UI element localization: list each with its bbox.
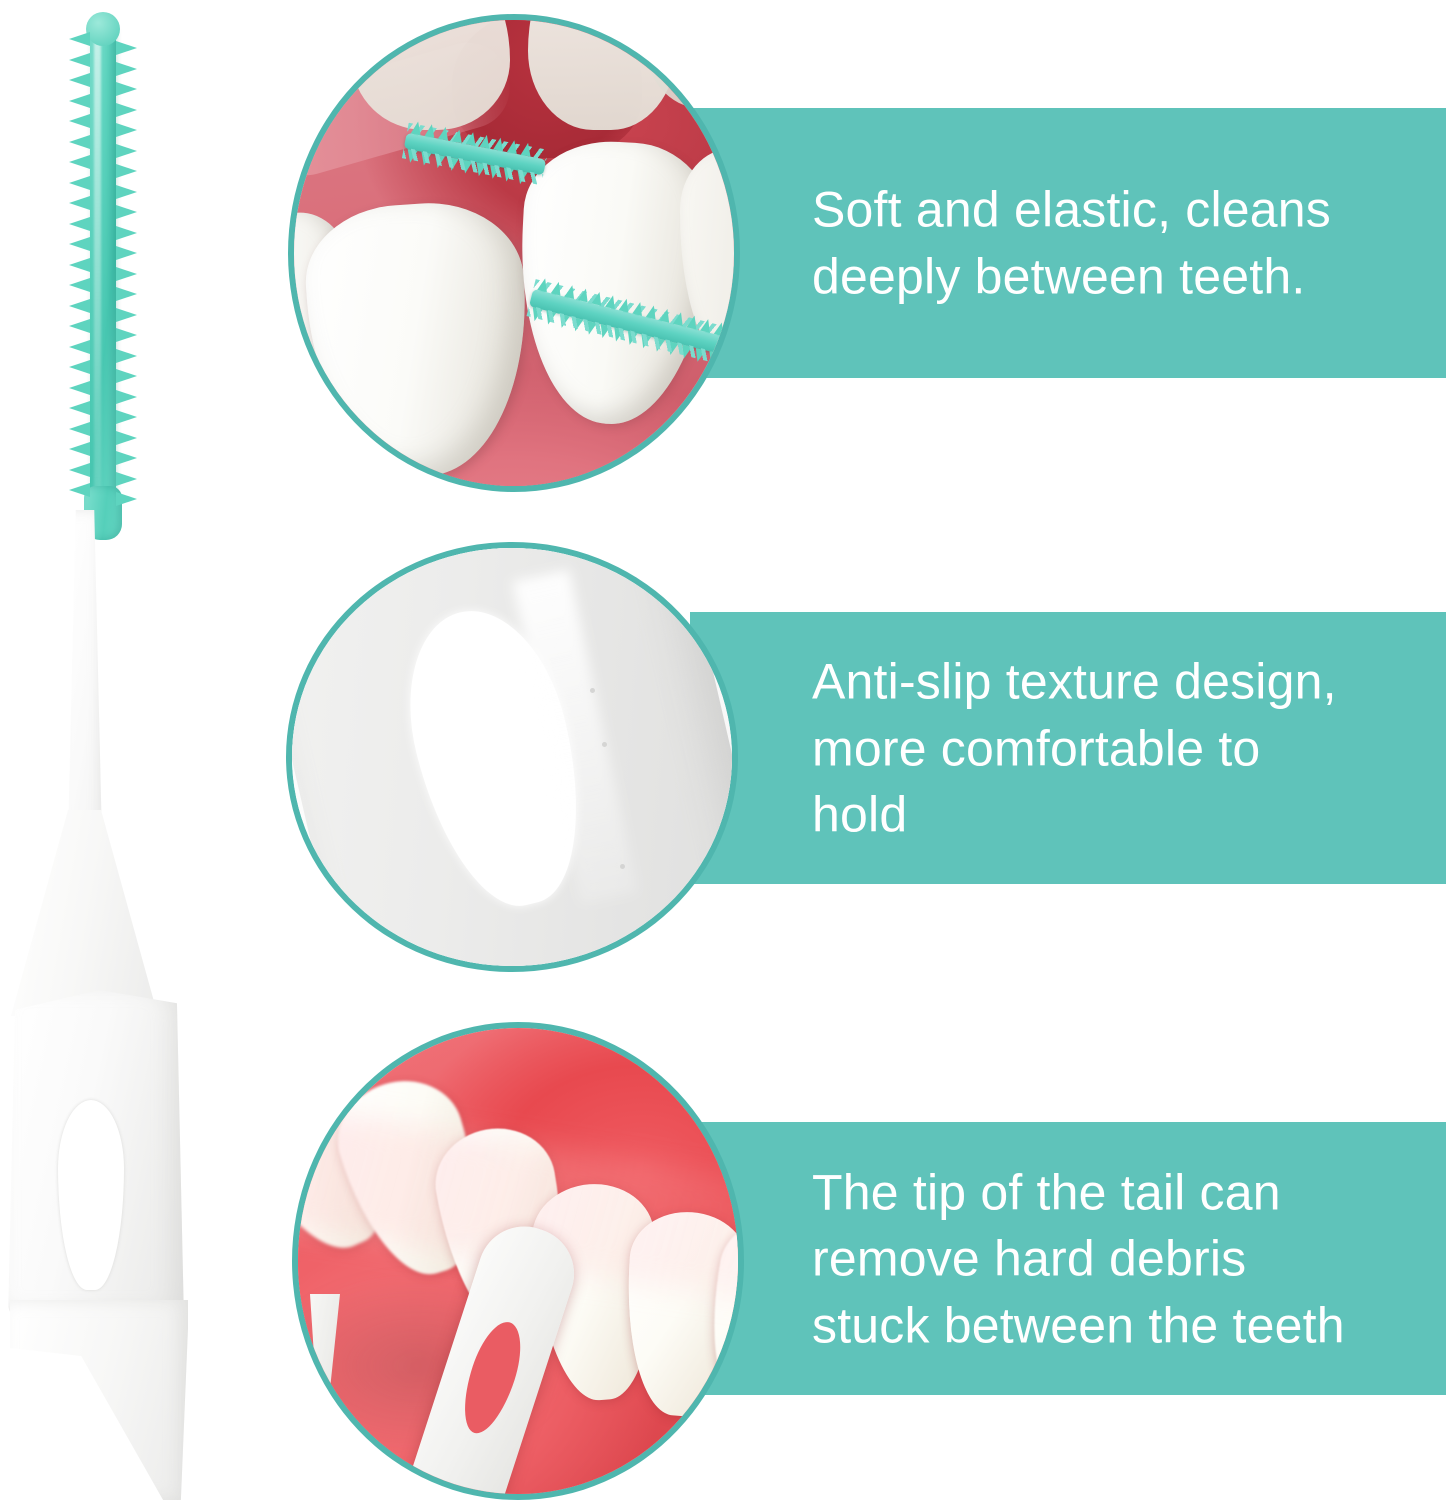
barb <box>116 123 137 137</box>
barb <box>69 258 90 272</box>
pick-spike <box>501 168 513 183</box>
barb <box>116 349 137 363</box>
pick-spike <box>438 126 450 141</box>
barb <box>69 217 90 231</box>
barb <box>69 381 90 395</box>
pick-spike <box>474 162 486 177</box>
barb <box>116 492 137 506</box>
handle-neck <box>0 510 220 1010</box>
pick-spike <box>419 152 431 167</box>
pick-spike <box>493 137 505 152</box>
pick-spike <box>693 348 706 363</box>
pick-spike <box>619 298 632 313</box>
barb <box>69 73 90 87</box>
pick-spike <box>460 160 472 175</box>
pick-spike <box>551 281 564 296</box>
pick-spike <box>411 121 423 136</box>
barb <box>116 41 137 55</box>
barb <box>116 103 137 117</box>
barb <box>116 267 137 281</box>
pick-spike <box>507 139 519 154</box>
barb <box>116 410 137 424</box>
barb <box>69 442 90 456</box>
pick-spike <box>446 157 458 172</box>
pick-spike <box>611 328 624 343</box>
surface-speck <box>620 864 625 869</box>
pick-spike <box>479 134 491 149</box>
barb <box>69 155 90 169</box>
feature-photo-2 <box>286 542 738 972</box>
barb <box>116 185 137 199</box>
surface-speck <box>602 742 607 747</box>
feature-banner-3: The tip of the tail can remove hard debr… <box>690 1122 1446 1395</box>
pick-spike <box>515 170 527 185</box>
pick-spike <box>632 301 645 316</box>
barb <box>69 32 90 46</box>
pick-spike <box>679 345 692 360</box>
pick-spike <box>659 308 672 323</box>
pick-spike <box>584 321 597 336</box>
pick-spike <box>605 294 618 309</box>
barb <box>69 483 90 497</box>
barb <box>69 340 90 354</box>
barb <box>69 299 90 313</box>
pick-spike <box>700 318 713 333</box>
pick-spike <box>537 277 550 292</box>
barb <box>69 319 90 333</box>
barb <box>69 463 90 477</box>
bristle-tip <box>86 12 120 46</box>
barb <box>116 205 137 219</box>
product-illustration <box>0 0 280 1500</box>
pick-spike <box>578 287 591 302</box>
barb <box>116 451 137 465</box>
pick-spike <box>466 131 478 146</box>
barb <box>69 176 90 190</box>
pick-spike <box>673 311 686 326</box>
pick-spike <box>646 304 659 319</box>
pick-spike <box>405 149 417 164</box>
bristle-head <box>72 18 134 530</box>
barb <box>116 62 137 76</box>
handle-tail-tip <box>10 1300 188 1500</box>
barb <box>69 114 90 128</box>
barb <box>116 82 137 96</box>
feature-text-1: Soft and elastic, cleans deeply between … <box>812 177 1438 310</box>
barb <box>69 237 90 251</box>
feature-banner-2: Anti-slip texture design, more comfortab… <box>690 612 1446 884</box>
barb <box>69 278 90 292</box>
barb <box>69 360 90 374</box>
barb <box>116 328 137 342</box>
pick-spike <box>625 331 638 346</box>
pick-spike <box>543 311 556 326</box>
barb <box>69 422 90 436</box>
pick-spike <box>598 324 611 339</box>
barb <box>116 287 137 301</box>
barb <box>69 196 90 210</box>
feature-text-2: Anti-slip texture design, more comfortab… <box>812 648 1438 848</box>
feature-photo-1 <box>288 14 740 492</box>
barb <box>116 431 137 445</box>
pick-spike <box>530 307 543 322</box>
pick-spike <box>488 165 500 180</box>
feature-photo-3 <box>292 1022 744 1500</box>
infographic-stage: Soft and elastic, cleans deeply between … <box>0 0 1446 1500</box>
barb <box>69 401 90 415</box>
barb <box>116 308 137 322</box>
barb <box>116 369 137 383</box>
barb <box>69 94 90 108</box>
feature-text-3: The tip of the tail can remove hard debr… <box>812 1159 1438 1359</box>
bristle-core <box>90 18 116 530</box>
barb <box>116 390 137 404</box>
pick-spike <box>714 321 727 336</box>
pick-spike <box>564 284 577 299</box>
pick-spike <box>687 314 700 329</box>
surface-speck <box>590 688 595 693</box>
barb <box>116 164 137 178</box>
pick-spike <box>652 338 665 353</box>
barb <box>116 246 137 260</box>
lower-central-incisor <box>301 197 537 484</box>
pick-spike <box>666 341 679 356</box>
pick-spike <box>433 154 445 169</box>
teeth-with-teal-picks-render <box>292 18 736 488</box>
pick-spike <box>706 351 719 366</box>
barb <box>69 53 90 67</box>
pick-spike <box>521 142 533 157</box>
pick-spike <box>592 291 605 306</box>
pick-in-use-dental-model <box>296 1026 740 1496</box>
barb <box>116 144 137 158</box>
handle-oval-hole-macro <box>290 546 734 968</box>
pick-spike <box>452 129 464 144</box>
pick-spike-row <box>405 149 527 185</box>
pick-spike <box>425 123 437 138</box>
barb <box>69 135 90 149</box>
feature-banner-1: Soft and elastic, cleans deeply between … <box>690 108 1446 378</box>
barb <box>116 226 137 240</box>
pick-spike <box>570 317 583 332</box>
barb <box>116 472 137 486</box>
pick-spike <box>638 334 651 349</box>
pick-spike <box>557 314 570 329</box>
